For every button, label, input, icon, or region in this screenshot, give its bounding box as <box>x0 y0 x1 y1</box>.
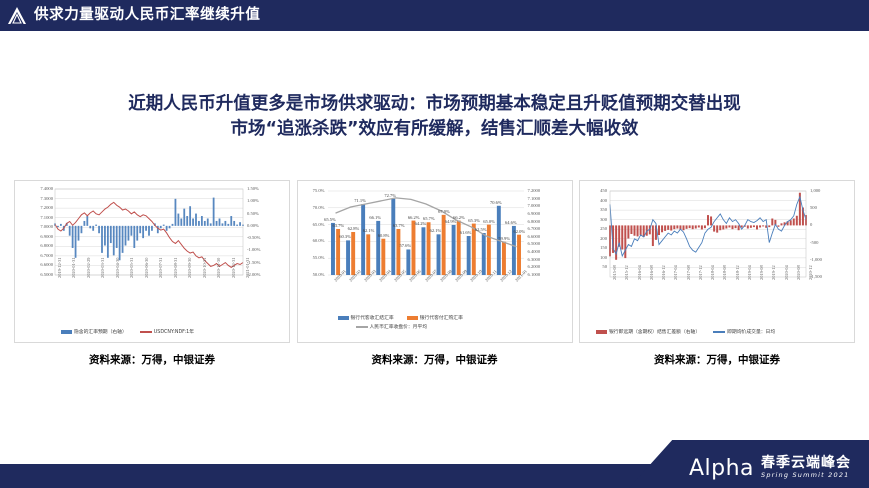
footer-brand: Alpha 春季云端峰会 Spring Summit 2021 <box>689 456 851 480</box>
chart-ndf-expectation[interactable]: 7.40007.30007.20007.10007.00006.90006.80… <box>14 180 290 343</box>
legend-line-swatch-icon <box>713 331 725 333</box>
legend-label: 即期询价成交量：日均 <box>727 328 775 335</box>
legend-item[interactable]: 即期询价成交量：日均 <box>713 328 775 335</box>
bar-data-label: 65.0% <box>483 219 495 224</box>
legend-label: USDCNY:NDF:1年 <box>154 328 194 335</box>
chart-block-ndf-expectation: 7.40007.30007.20007.10007.00006.90006.80… <box>14 180 290 385</box>
page-title-line-1: 近期人民币升值更多是市场供求驱动：市场预期基本稳定且升贬值预期交替出现 <box>40 92 829 117</box>
bar-data-label: 64.6% <box>505 220 517 225</box>
legend-label: 隐含的汇率预期（右轴） <box>74 328 127 335</box>
legend-bar-swatch-icon <box>596 330 607 334</box>
legend-line-swatch-icon <box>356 326 368 328</box>
bar-data-label: 62.5% <box>475 227 487 232</box>
legend-label: 银行代客收汇结汇率 <box>351 314 394 321</box>
legend-item[interactable]: USDCNY:NDF:1年 <box>140 328 194 335</box>
x-axis-tick: 2020-07-31 <box>158 258 163 279</box>
bar-data-label: 61.6% <box>460 230 472 235</box>
x-axis-tick: 2019-12-31 <box>57 258 62 279</box>
bar-data-label: 72.7% <box>384 193 396 198</box>
legend-item[interactable]: 银行代客付汇购汇率 <box>407 314 463 321</box>
bar-data-label: 66.2% <box>453 215 465 220</box>
bar-data-label: 60.8% <box>378 233 390 238</box>
brand-cn: 春季云端峰会 Spring Summit 2021 <box>761 456 851 480</box>
x-axis-tick: 2016-08 <box>649 265 654 280</box>
x-axis-tick: 2015-12 <box>624 265 629 280</box>
brand-cn-main: 春季云端峰会 <box>761 456 851 471</box>
bar-data-label: 59.9% <box>498 236 510 241</box>
brand-cn-sub: Spring Summit 2021 <box>761 471 850 480</box>
source-note-chart-3: 资料来源：万得，中银证券 <box>579 352 855 367</box>
x-axis-tick: 2020-04-30 <box>115 258 120 279</box>
legend-label: 银行即远期（含期权）结售汇差额（右轴） <box>609 328 700 335</box>
bar-data-label: 65.5% <box>324 217 336 222</box>
bar-data-label: 71.1% <box>354 198 366 203</box>
x-axis-tick: 2020-08-31 <box>173 258 178 279</box>
charts-row: 7.40007.30007.20007.10007.00006.90006.80… <box>0 180 869 385</box>
x-axis-tick: 2021-01-31 <box>245 258 250 279</box>
bar-data-label: 70.6% <box>490 200 502 205</box>
legend-bar-swatch-icon <box>61 330 72 334</box>
x-axis-tick: 2018-04 <box>710 265 715 280</box>
x-axis-tick: 2020-05-31 <box>129 258 134 279</box>
x-axis-tick: 2018-12 <box>735 265 740 280</box>
header-title: 供求力量驱动人民币汇率继续升值 <box>34 8 261 23</box>
bar-data-label: 66.2% <box>408 215 420 220</box>
x-axis-tick: 2016-04 <box>637 265 642 280</box>
chart-legend: 人民币汇率收盘价：月平均 <box>356 323 428 330</box>
x-axis-tick: 2020-02-29 <box>86 258 91 279</box>
chart-settlement-ratio[interactable]: 75.0%70.0%65.0%60.0%55.0%50.0%7.20007.10… <box>297 180 573 343</box>
chart-plot-area <box>580 181 855 343</box>
x-axis-tick: 2020-12 <box>808 265 813 280</box>
chart-legend: 银行即远期（含期权）结售汇差额（右轴）即期询价成交量：日均 <box>596 328 775 335</box>
x-axis-tick: 2019-08 <box>759 265 764 280</box>
bar-data-label: 63.7% <box>393 223 405 228</box>
bar-data-label: 63.7% <box>333 223 345 228</box>
legend-bar-swatch-icon <box>338 316 349 320</box>
brand-alpha: Alpha <box>689 458 754 480</box>
bar-data-label: 62.1% <box>430 228 442 233</box>
bar-data-label: 65.3% <box>468 218 480 223</box>
x-axis-tick: 2020-03-31 <box>100 258 105 279</box>
x-axis-tick: 2016-12 <box>661 265 666 280</box>
x-axis-tick: 2019-04 <box>747 265 752 280</box>
page-title: 近期人民币升值更多是市场供求驱动：市场预期基本稳定且升贬值预期交替出现 市场“追… <box>40 92 829 143</box>
legend-bar-swatch-icon <box>407 316 418 320</box>
source-note-chart-1: 资料来源：万得，中银证券 <box>14 352 290 367</box>
chart-legend: 隐含的汇率预期（右轴）USDCNY:NDF:1年 <box>61 328 194 335</box>
x-axis-tick: 2017-12 <box>698 265 703 280</box>
bar-data-label: 67.9% <box>438 209 450 214</box>
slide-root: 供求力量驱动人民币汇率继续升值 近期人民币升值更多是市场供求驱动：市场预期基本稳… <box>0 0 869 488</box>
x-axis-tick: 2019-12 <box>771 265 776 280</box>
x-axis-tick: 2020-08 <box>796 265 801 280</box>
bar-data-label: 62.8% <box>348 226 360 231</box>
legend-label: 银行代客付汇购汇率 <box>420 314 463 321</box>
chart-block-fx-settlement-gap: 450400350300250200150100501,0005000-500-… <box>579 180 855 385</box>
x-axis-tick: 2020-11-30 <box>216 258 221 278</box>
header-bar: 供求力量驱动人民币汇率继续升值 <box>0 0 869 31</box>
x-axis-tick: 2018-08 <box>722 265 727 280</box>
chart-block-settlement-ratio: 75.0%70.0%65.0%60.0%55.0%50.0%7.20007.10… <box>297 180 573 385</box>
x-axis-tick: 2017-08 <box>686 265 691 280</box>
bar-data-label: 65.7% <box>423 216 435 221</box>
legend-item[interactable]: 隐含的汇率预期（右轴） <box>61 328 127 335</box>
bar-data-label: 57.6% <box>400 243 412 248</box>
x-axis-tick: 2020-06-30 <box>144 258 149 279</box>
bar-data-label: 62.0% <box>513 229 525 234</box>
legend-line-swatch-icon <box>140 331 152 333</box>
x-axis-tick: 2020-09-30 <box>187 258 192 279</box>
x-axis-tick: 2020-10-31 <box>202 258 207 279</box>
bar-data-label: 60.3% <box>339 234 351 239</box>
source-note-chart-2: 资料来源：万得，中银证券 <box>297 352 573 367</box>
triangle-logo-icon <box>0 0 34 31</box>
legend-label: 人民币汇率收盘价：月平均 <box>370 323 428 330</box>
x-axis-tick: 2020-01-31 <box>71 258 76 279</box>
legend-item[interactable]: 银行代客收汇结汇率 <box>338 314 394 321</box>
x-axis-tick: 2017-04 <box>673 265 678 280</box>
x-axis-tick: 2020-12-31 <box>231 258 236 279</box>
bar-data-label: 66.1% <box>369 215 381 220</box>
bar-data-label: 64.9% <box>445 219 457 224</box>
legend-item[interactable]: 人民币汇率收盘价：月平均 <box>356 323 428 330</box>
x-axis-tick: 2020-04 <box>784 265 789 280</box>
chart-legend: 银行代客收汇结汇率银行代客付汇购汇率 <box>338 314 463 321</box>
page-title-line-2: 市场“追涨杀跌”效应有所缓解，结售汇顺差大幅收敛 <box>40 117 829 142</box>
x-axis-tick: 2015-08 <box>612 265 617 280</box>
bar-data-label: 62.1% <box>363 228 375 233</box>
chart-fx-settlement-gap[interactable]: 450400350300250200150100501,0005000-500-… <box>579 180 855 343</box>
bar-data-label: 64.2% <box>415 221 427 226</box>
legend-item[interactable]: 银行即远期（含期权）结售汇差额（右轴） <box>596 328 700 335</box>
